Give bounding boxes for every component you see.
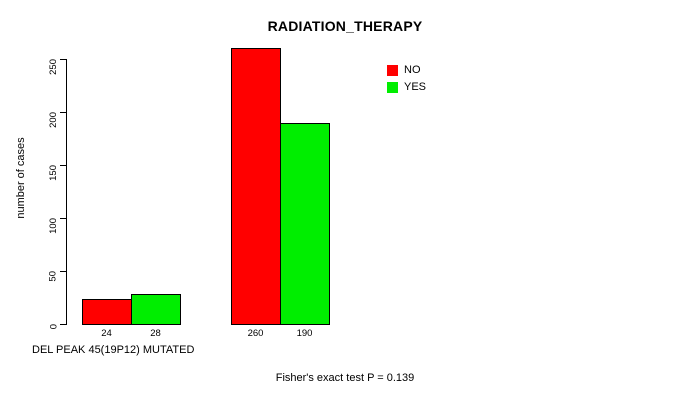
chart-legend: NOYES	[387, 62, 426, 96]
y-axis-tick-label: 200	[49, 112, 59, 128]
y-axis-tick-label: 150	[49, 165, 59, 181]
bar-yes-190	[280, 123, 330, 325]
bar-no-260	[231, 48, 281, 325]
statistical-test-note: Fisher's exact test P = 0.139	[0, 372, 690, 384]
bar-yes-28	[131, 294, 181, 325]
y-axis-tick-mark	[60, 112, 67, 113]
y-axis-tick-mark	[60, 218, 67, 219]
x-axis-group-label: DEL PEAK 45(19P12) MUTATED	[32, 344, 194, 356]
y-axis-tick-label: 50	[49, 271, 59, 282]
bar-value-label: 28	[131, 328, 180, 339]
y-axis-tick-label-wrap: 100	[0, 213, 54, 223]
bar-value-label: 24	[82, 328, 131, 339]
y-axis-tick-label-wrap: 200	[0, 107, 54, 117]
legend-swatch-yes	[387, 82, 398, 93]
y-axis-tick-mark	[60, 271, 67, 272]
y-axis-tick-label: 100	[49, 218, 59, 234]
y-axis-line	[66, 59, 67, 325]
y-axis-tick-mark	[60, 59, 67, 60]
bar-value-label: 260	[231, 328, 280, 339]
legend-swatch-no	[387, 65, 398, 76]
chart-title: RADIATION_THERAPY	[0, 18, 690, 34]
y-axis-title: number of cases	[15, 113, 27, 243]
y-axis-tick-label-wrap: 0	[0, 319, 54, 329]
legend-item-no: NO	[387, 62, 426, 79]
legend-item-yes: YES	[387, 79, 426, 96]
bar-chart-figure: RADIATION_THERAPY 050100150200250 number…	[0, 0, 690, 400]
bar-no-24	[82, 299, 132, 325]
bar-value-label: 190	[280, 328, 329, 339]
legend-label: YES	[404, 82, 426, 93]
y-axis-tick-label: 0	[49, 324, 59, 329]
y-axis-tick-label-wrap: 150	[0, 160, 54, 170]
y-axis-tick-label-wrap: 50	[0, 266, 54, 276]
y-axis-tick-label-wrap: 250	[0, 54, 54, 64]
y-axis-tick-mark	[60, 165, 67, 166]
y-axis-tick-label: 250	[49, 59, 59, 75]
legend-label: NO	[404, 65, 421, 76]
y-axis-tick-mark	[60, 324, 67, 325]
